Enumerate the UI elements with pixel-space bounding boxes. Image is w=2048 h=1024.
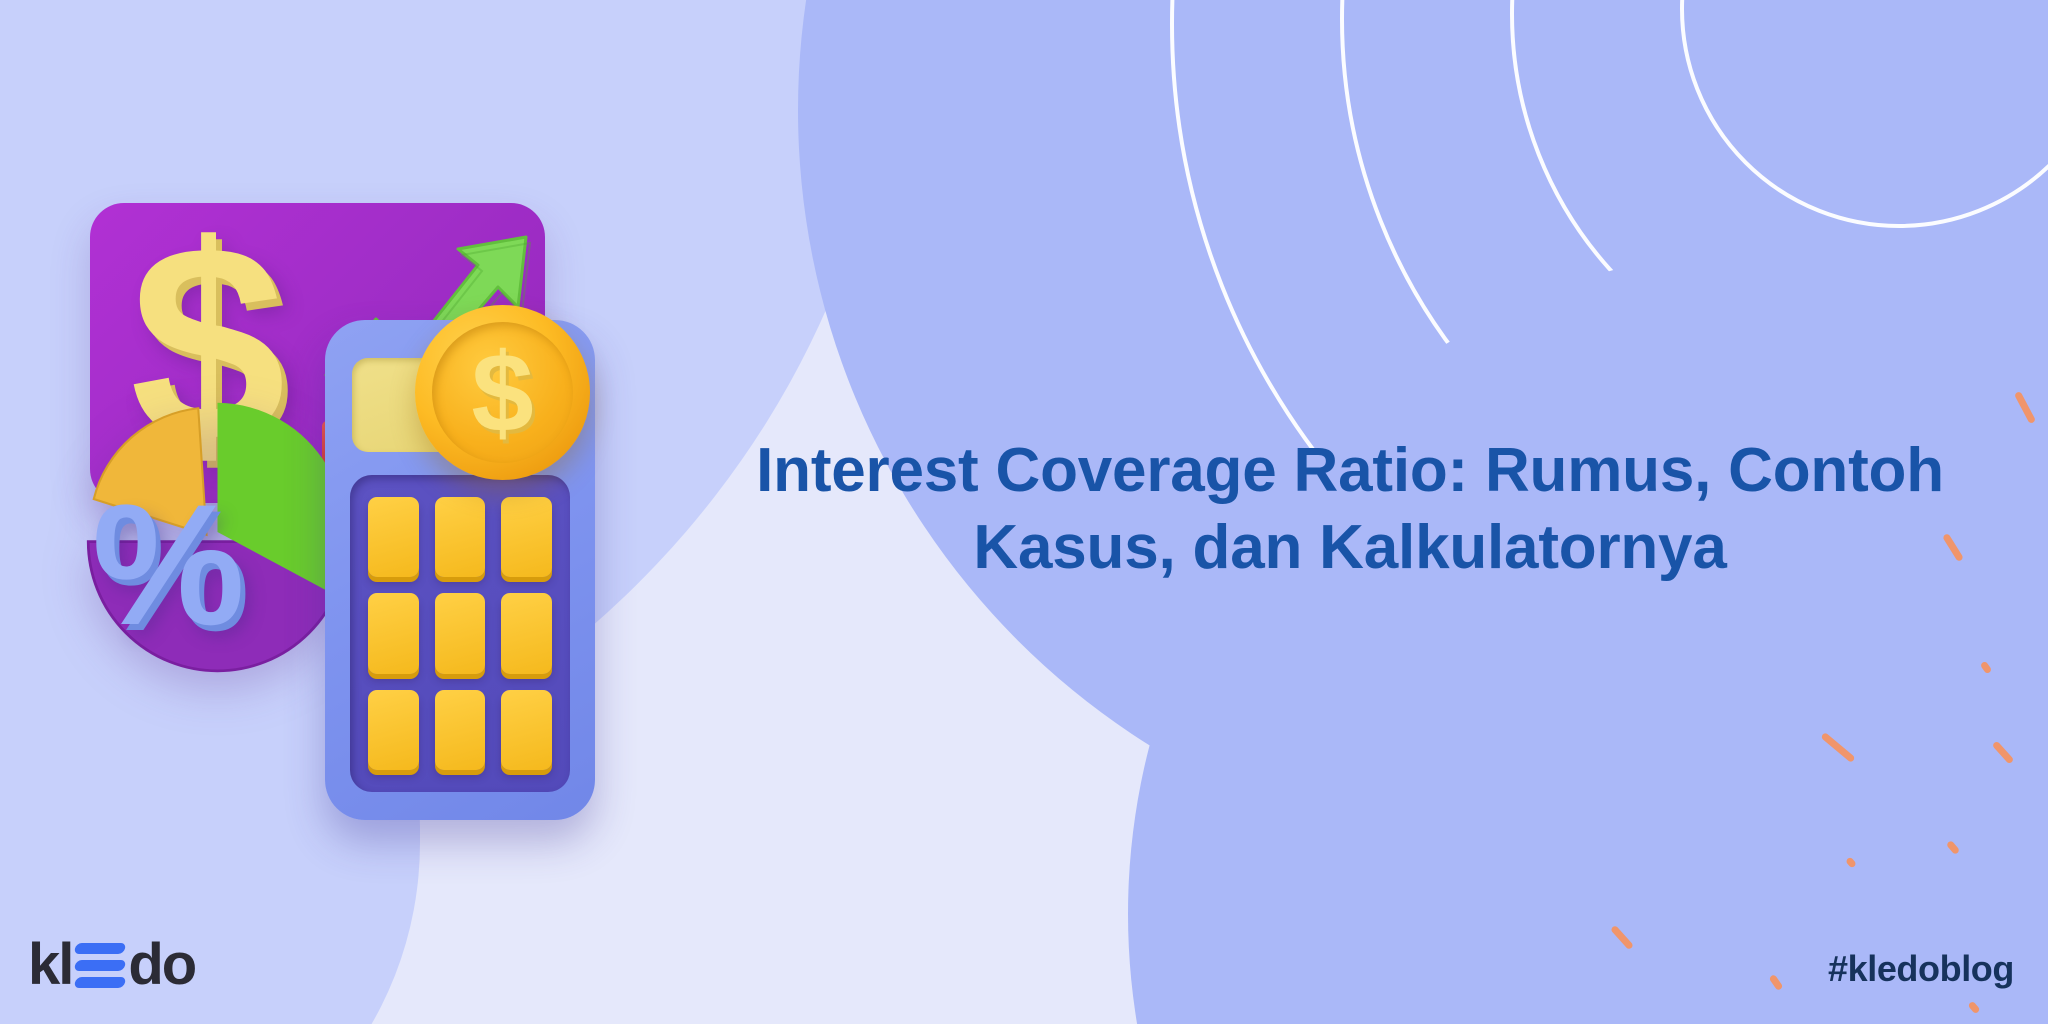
top-right-periwinkle-blob [798, 0, 2048, 860]
calculator-key [368, 690, 419, 770]
concentric-ring-1 [1680, 0, 2048, 228]
calculator-key [435, 593, 486, 673]
blog-cover-banner: $ % [0, 0, 2048, 1024]
hashtag-label: #kledoblog [1828, 948, 2014, 990]
confetti-dash [2014, 391, 2036, 424]
calculator-key [435, 690, 486, 770]
calculator-key [368, 593, 419, 673]
confetti-dash [1992, 740, 2015, 764]
page-title-line-2: Kasus, dan Kalkulatornya [973, 513, 1726, 582]
kledo-logo[interactable]: kl do [28, 936, 195, 994]
percent-sign-icon: % [92, 485, 302, 645]
logo-text-prefix: kl [28, 936, 72, 994]
finance-3d-illustration: $ % [70, 185, 690, 845]
calculator-keypad [350, 475, 570, 792]
calculator-key [501, 497, 552, 577]
logo-text-suffix: do [128, 936, 195, 994]
coin-face: $ [432, 322, 573, 463]
calculator-key [435, 497, 486, 577]
calculator-key [501, 690, 552, 770]
concentric-ring-4 [1170, 0, 2048, 738]
page-title-line-1: Interest Coverage Ratio: Rumus, Contoh [756, 436, 1944, 505]
calculator-key [368, 497, 419, 577]
confetti-dash [1610, 925, 1634, 950]
gold-coin-icon: $ [415, 305, 590, 480]
bottom-right-periwinkle-blob [1128, 244, 2048, 1024]
page-title: Interest Coverage Ratio: Rumus, Contoh K… [700, 432, 2000, 587]
confetti-dash [1845, 856, 1857, 868]
concentric-ring-2 [1510, 0, 2048, 398]
calculator-key [501, 593, 552, 673]
confetti-dash [1980, 661, 1993, 675]
coin-dollar-sign-icon: $ [471, 341, 533, 445]
confetti-dash [1769, 974, 1784, 991]
confetti-dash [1946, 840, 1960, 855]
confetti-dash [1820, 732, 1855, 763]
confetti-dash [1967, 1001, 1980, 1015]
logo-bars-icon [75, 941, 125, 989]
